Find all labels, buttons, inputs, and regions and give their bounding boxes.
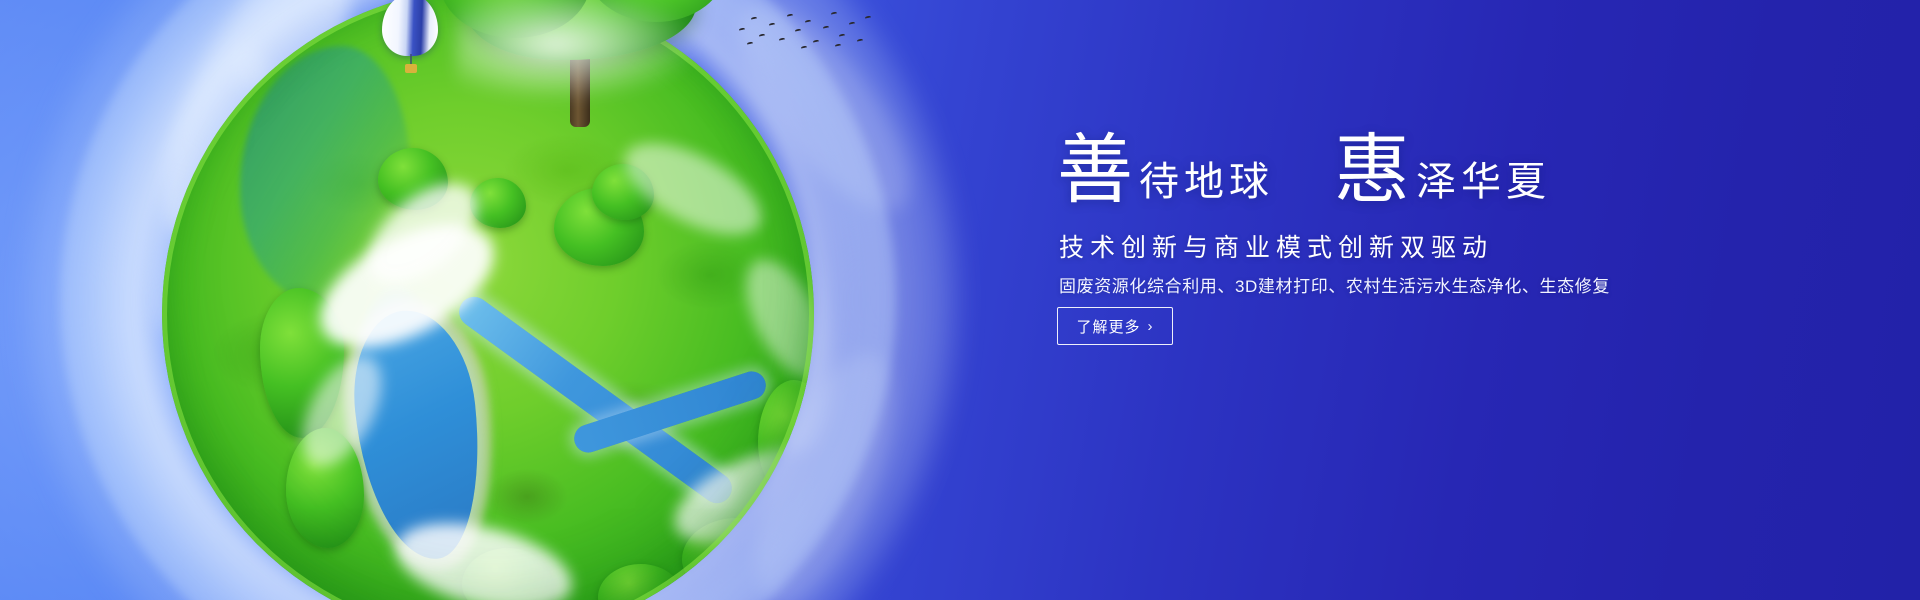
bush	[682, 518, 792, 598]
balloon-rope	[410, 54, 412, 66]
bush	[260, 288, 344, 438]
tree-canopy	[440, 0, 590, 38]
bush	[554, 188, 644, 266]
headline-char-1: 善	[1057, 132, 1133, 208]
page-description: 固废资源化综合利用、3D建材打印、农村生活污水生态净化、生态修复	[1059, 272, 1610, 297]
page-subtitle: 技术创新与商业模式创新双驱动	[1059, 228, 1493, 264]
bush	[286, 428, 364, 548]
surface-cloud	[301, 199, 514, 373]
tree-mist	[456, 0, 706, 104]
river	[453, 291, 738, 509]
headline-char-2: 惠	[1334, 132, 1410, 208]
mountain-ridge	[240, 46, 410, 306]
surface-cloud	[286, 343, 397, 478]
tree-canopy	[586, 0, 726, 22]
surface-cloud	[662, 429, 814, 563]
learn-more-label: 了解更多	[1076, 316, 1140, 337]
bush	[378, 148, 448, 210]
river-branch	[571, 368, 770, 456]
hero-banner: 善 待地球 惠 泽华夏 技术创新与商业模式创新双驱动 固废资源化综合利用、3D建…	[0, 0, 1920, 600]
bush	[462, 548, 554, 600]
large-tree-icon	[466, 0, 696, 125]
tree-canopy	[466, 0, 696, 60]
cloud-wisp	[711, 0, 940, 235]
grass-texture	[162, 0, 814, 600]
balloon-envelope	[382, 0, 438, 56]
bush	[470, 178, 526, 228]
hero-content: 善 待地球 惠 泽华夏 技术创新与商业模式创新双驱动 固废资源化综合利用、3D建…	[1057, 0, 1837, 600]
cloud-wisp	[162, 335, 395, 597]
tree-trunk	[570, 22, 590, 127]
headline-text-1: 待地球	[1139, 162, 1274, 208]
surface-cloud	[611, 125, 774, 254]
sky-glow	[0, 0, 860, 600]
balloon-basket	[405, 64, 417, 73]
globe-sphere	[162, 0, 814, 600]
cloud-wisp	[207, 0, 462, 115]
chevron-right-icon: ›	[1148, 319, 1154, 334]
cloud-wisp	[123, 30, 297, 345]
planet-atmosphere	[60, 0, 896, 600]
headline-text-2: 泽华夏	[1416, 162, 1551, 208]
lake	[345, 304, 490, 565]
cloud-wisp	[172, 194, 365, 512]
learn-more-button[interactable]: 了解更多 ›	[1057, 307, 1173, 345]
lake-shore	[334, 293, 506, 579]
surface-cloud	[729, 247, 814, 391]
cloud-wisp	[685, 147, 855, 463]
cloud-wisp	[127, 0, 388, 264]
page-title: 善 待地球 惠 泽华夏	[1057, 132, 1551, 208]
tiny-planet-illustration	[150, 0, 850, 600]
hot-air-balloon-icon	[382, 0, 446, 84]
surface-cloud	[351, 164, 496, 301]
bird-flock-icon	[735, 8, 875, 54]
bush	[592, 164, 654, 220]
planet-atmosphere-outer	[26, 0, 956, 600]
cloud-wisp	[728, 336, 922, 600]
bush	[758, 380, 814, 500]
surface-cloud	[387, 507, 581, 600]
bush	[598, 564, 684, 600]
